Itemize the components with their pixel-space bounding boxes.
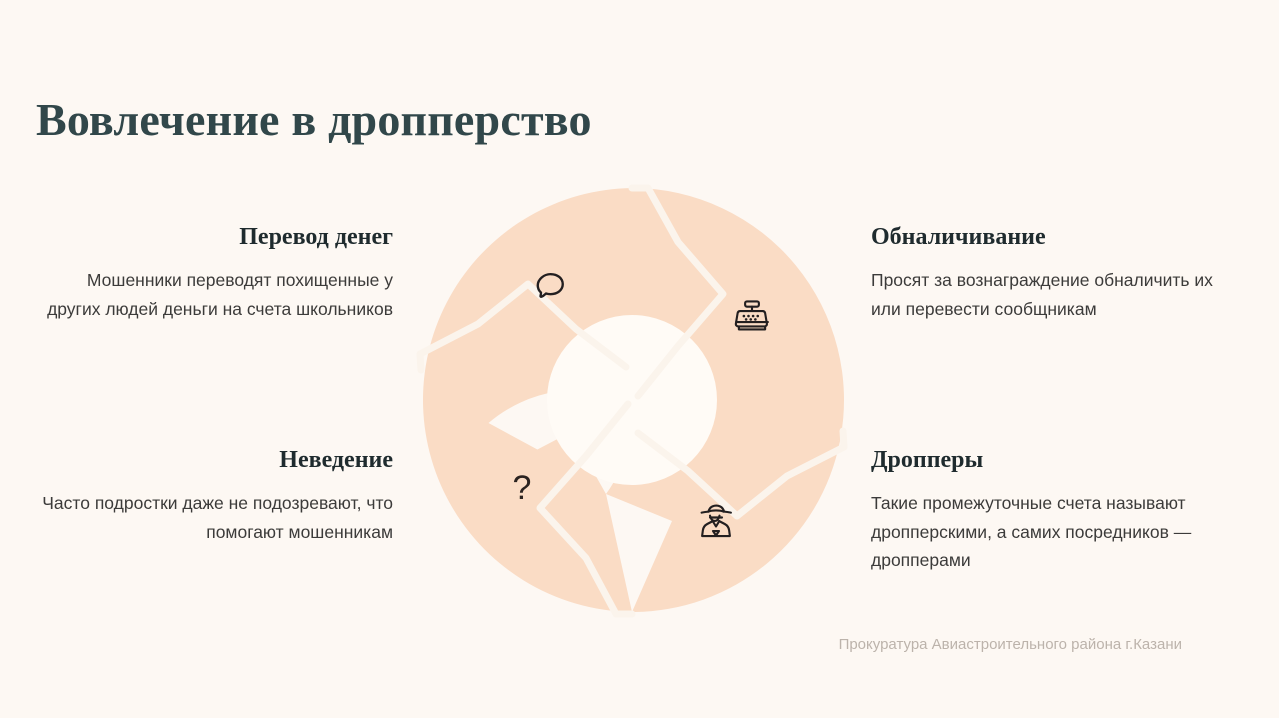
slide-canvas: Вовлечение в дропперство Перевод денег М…: [0, 0, 1279, 718]
segment-text-transfer: Перевод денег Мошенники переводят похище…: [38, 222, 393, 323]
segment-text-cashout: Обналичивание Просят за вознаграждение о…: [871, 222, 1226, 323]
segment-heading-droppers: Дропперы: [871, 445, 1226, 475]
segment-heading-transfer: Перевод денег: [38, 222, 393, 252]
segment-body-cashout: Просят за вознаграждение обналичить их и…: [871, 266, 1226, 323]
segment-heading-ignorance: Неведение: [38, 445, 393, 475]
segment-body-droppers: Такие промежуточные счета называют дропп…: [871, 489, 1226, 575]
footer-attribution: Прокуратура Авиастроительного района г.К…: [839, 634, 1182, 656]
segment-text-droppers: Дропперы Такие промежуточные счета назыв…: [871, 445, 1226, 575]
donut-hub: [547, 315, 717, 485]
segment-body-transfer: Мошенники переводят похищенные у других …: [38, 266, 393, 323]
segment-body-ignorance: Часто подростки даже не подозревают, что…: [38, 489, 393, 546]
cycle-diagram: ?: [410, 176, 856, 626]
donut-svg: [410, 176, 856, 626]
page-title: Вовлечение в дропперство: [36, 92, 592, 148]
segment-text-ignorance: Неведение Часто подростки даже не подозр…: [38, 445, 393, 546]
segment-heading-cashout: Обналичивание: [871, 222, 1226, 252]
